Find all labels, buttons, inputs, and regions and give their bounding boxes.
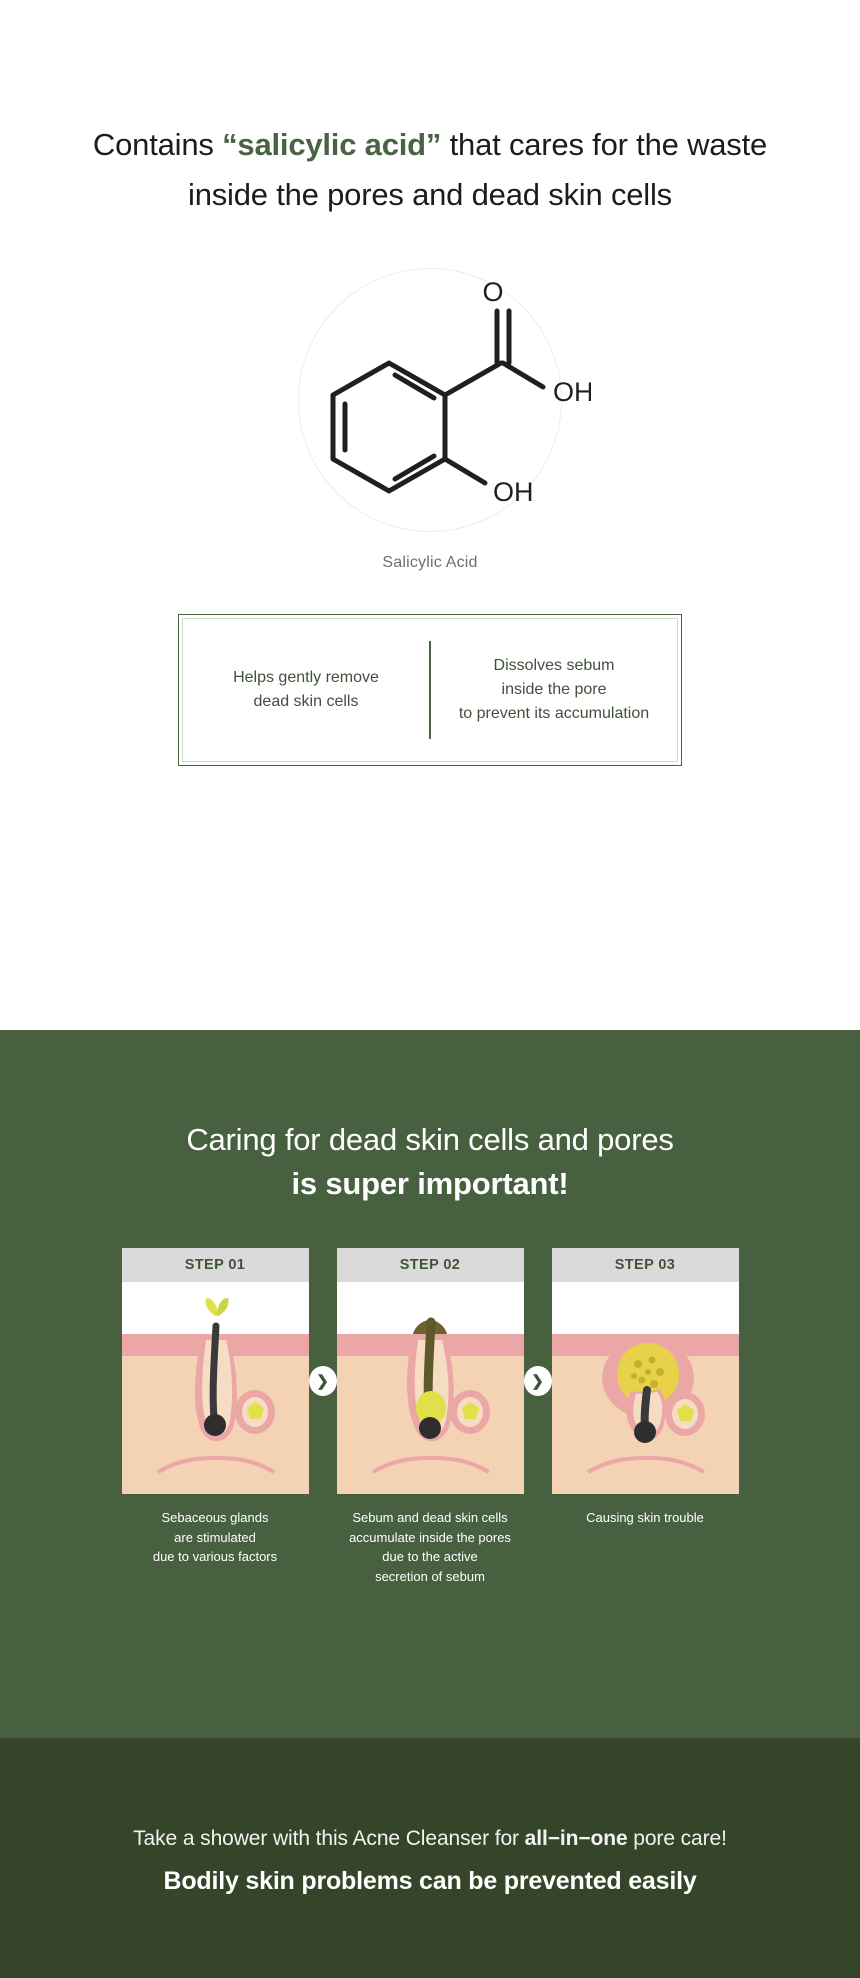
step-02-caption-line-1: Sebum and dead skin cells bbox=[341, 1508, 520, 1528]
headline-post: that cares for the waste bbox=[441, 127, 767, 162]
step-03-label: STEP 03 bbox=[552, 1248, 739, 1282]
benefits-box-inner: Helps gently remove dead skin cells Diss… bbox=[182, 618, 678, 762]
headline-accent: salicylic acid bbox=[237, 127, 426, 162]
footer-line-1: Take a shower with this Acne Cleanser fo… bbox=[133, 1827, 727, 1851]
benefit-sebum: Dissolves sebum inside the pore to preve… bbox=[431, 641, 677, 739]
pore-care-heading-line-2: is super important! bbox=[0, 1162, 860, 1206]
page-title: Contains “salicylic acid” that cares for… bbox=[0, 0, 860, 220]
step-arrow-1-wrap: ❯ bbox=[309, 1248, 337, 1396]
infographic-page: Contains “salicylic acid” that cares for… bbox=[0, 0, 860, 1978]
step-card-02: STEP 02 bbox=[337, 1248, 524, 1586]
benefits-box: Helps gently remove dead skin cells Diss… bbox=[178, 614, 682, 766]
step-03-illustration bbox=[552, 1282, 739, 1494]
step-01-caption: Sebaceous glands are stimulated due to v… bbox=[122, 1508, 309, 1567]
step-03-caption: Causing skin trouble bbox=[552, 1508, 739, 1528]
molecule-caption: Salicylic Acid bbox=[0, 554, 860, 572]
footer-line-1-post: pore care! bbox=[628, 1827, 727, 1850]
step-03-caption-line-1: Causing skin trouble bbox=[556, 1508, 735, 1528]
step-01-caption-line-1: Sebaceous glands bbox=[126, 1508, 305, 1528]
clogged-pore-icon bbox=[337, 1282, 524, 1494]
pore-care-heading-line-1: Caring for dead skin cells and pores bbox=[0, 1118, 860, 1162]
step-02-caption-line-4: secretion of sebum bbox=[341, 1567, 520, 1587]
footer-line-1-pre: Take a shower with this Acne Cleanser fo… bbox=[133, 1827, 525, 1850]
step-02-label: STEP 02 bbox=[337, 1248, 524, 1282]
step-arrow-2-wrap: ❯ bbox=[524, 1248, 552, 1396]
step-card-01-body: STEP 01 bbox=[122, 1248, 309, 1494]
footer-line-1-bold: all−in−one bbox=[525, 1827, 628, 1850]
benefit-sebum-line-3: to prevent its accumulation bbox=[439, 702, 669, 726]
step-02-caption-line-3: due to the active bbox=[341, 1547, 520, 1567]
step-01-caption-line-3: due to various factors bbox=[126, 1547, 305, 1567]
headline-pre: Contains bbox=[93, 127, 222, 162]
salicylic-acid-structure-icon: O OH OH bbox=[271, 263, 591, 543]
step-02-illustration bbox=[337, 1282, 524, 1494]
benefit-exfoliation: Helps gently remove dead skin cells bbox=[183, 641, 431, 739]
step-02-caption-line-2: accumulate inside the pores bbox=[341, 1528, 520, 1548]
label-carboxyl-hydroxyl: OH bbox=[553, 377, 591, 407]
step-01-label: STEP 01 bbox=[122, 1248, 309, 1282]
pore-care-section: Caring for dead skin cells and pores is … bbox=[0, 1030, 860, 1738]
step-card-03-body: STEP 03 bbox=[552, 1248, 739, 1494]
step-01-caption-line-2: are stimulated bbox=[126, 1528, 305, 1548]
step-card-03: STEP 03 bbox=[552, 1248, 739, 1528]
step-card-01: STEP 01 bbox=[122, 1248, 309, 1567]
quote-close: ” bbox=[426, 127, 441, 162]
salicylic-acid-section: Contains “salicylic acid” that cares for… bbox=[0, 0, 860, 1030]
footer-cta: Take a shower with this Acne Cleanser fo… bbox=[0, 1738, 860, 1978]
steps-row: STEP 01 bbox=[0, 1248, 860, 1586]
benefit-exfoliation-line-2: dead skin cells bbox=[191, 690, 421, 714]
molecule-diagram: O OH OH bbox=[0, 268, 860, 532]
chevron-right-icon-2: ❯ bbox=[524, 1366, 552, 1396]
molecule-circle-backdrop: O OH OH bbox=[298, 268, 562, 532]
pore-care-heading: Caring for dead skin cells and pores is … bbox=[0, 1118, 860, 1206]
step-card-02-body: STEP 02 bbox=[337, 1248, 524, 1494]
headline-line-2: inside the pores and dead skin cells bbox=[0, 170, 860, 220]
skin-cross-section-icon bbox=[122, 1282, 309, 1494]
footer-line-2: Bodily skin problems can be prevented ea… bbox=[163, 1867, 696, 1896]
label-phenol-hydroxyl: OH bbox=[493, 477, 534, 507]
step-01-illustration bbox=[122, 1282, 309, 1494]
chevron-right-icon-1: ❯ bbox=[309, 1366, 337, 1396]
quote-open: “ bbox=[222, 127, 237, 162]
step-02-caption: Sebum and dead skin cells accumulate ins… bbox=[337, 1508, 524, 1586]
benefit-sebum-line-2: inside the pore bbox=[439, 678, 669, 702]
label-carbonyl-oxygen: O bbox=[482, 277, 503, 307]
headline-line-1: Contains “salicylic acid” that cares for… bbox=[0, 120, 860, 170]
benefit-exfoliation-line-1: Helps gently remove bbox=[191, 666, 421, 690]
inflamed-pore-icon bbox=[552, 1282, 739, 1494]
benefit-sebum-line-1: Dissolves sebum bbox=[439, 654, 669, 678]
